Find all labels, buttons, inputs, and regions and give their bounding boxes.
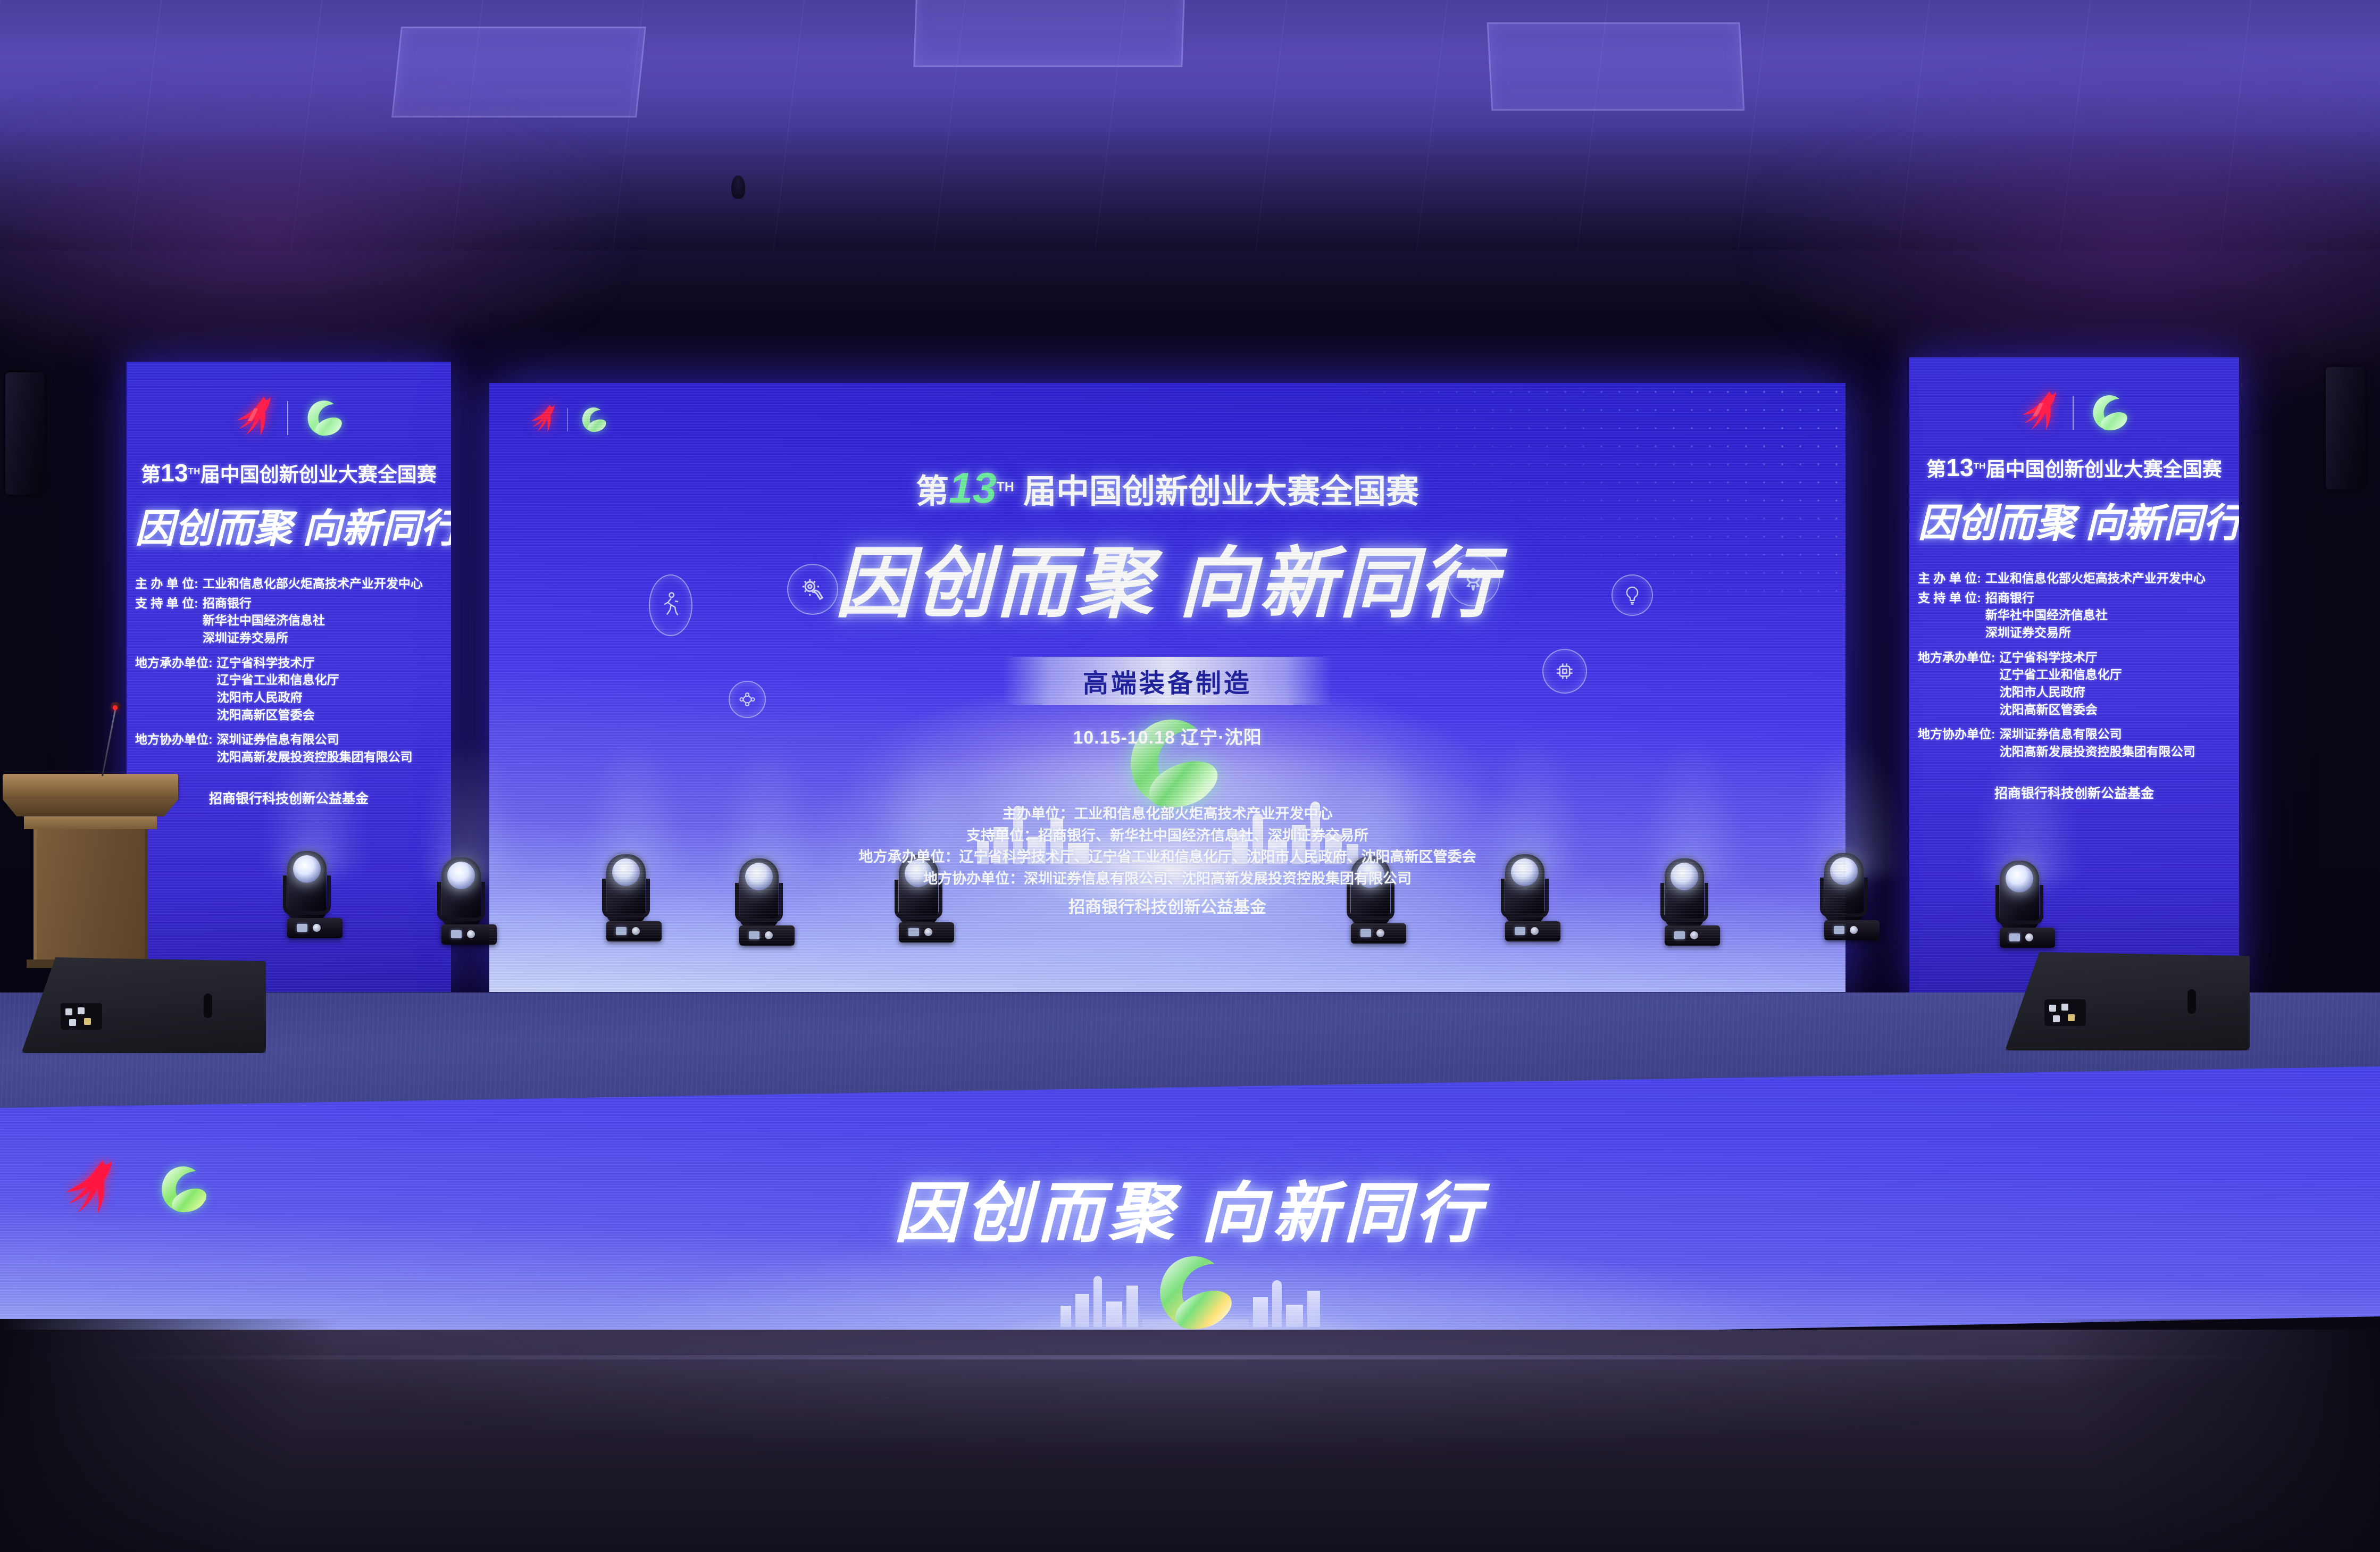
- banner-slogan-left: 因创而聚 向新同行: [135, 497, 442, 554]
- date-location: 10.15-10.18 辽宁·沈阳: [489, 723, 1845, 749]
- credit-label: 主 办 单 位:: [1918, 570, 1981, 587]
- banner-edition-right: 第13TH届中国创新创业大赛全国赛: [1918, 453, 2231, 482]
- logo-divider: [2073, 396, 2074, 430]
- credit-label: 支 持 单 位:: [135, 595, 198, 612]
- credit-values: 辽宁省科学技术厅 辽宁省工业和信息化厅 沈阳市人民政府 沈阳高新区管委会: [2000, 649, 2122, 719]
- credit-line: 支持单位：招商银行、新华社中国经济信息社、深圳证券交易所: [489, 825, 1845, 847]
- banner-credits-right: 主 办 单 位: 工业和信息化部火炬高技术产业开发中心 支 持 单 位: 招商银…: [1918, 570, 2231, 761]
- green-c-logo-icon: [575, 403, 609, 437]
- torch-logo-icon: [2016, 388, 2063, 437]
- credit-label: 地方协办单位:: [135, 731, 213, 748]
- logo-divider: [567, 408, 568, 431]
- credit-line: 主办单位：工业和信息化部火炬高技术产业开发中心: [489, 803, 1845, 825]
- main-led-screen: 第13TH 届中国创新创业大赛全国赛 因创而聚 向新同行 高端装备制造 10.1…: [489, 383, 1845, 992]
- credit-label: 主 办 单 位:: [135, 575, 198, 593]
- category-band-wrap: 高端装备制造: [489, 657, 1845, 705]
- podium-band: [24, 816, 157, 829]
- moving-head-light: [2000, 861, 2055, 948]
- credit-values: 深圳证券信息有限公司 沈阳高新发展投资控股集团有限公司: [2000, 725, 2195, 760]
- banner-fund-right: 招商银行科技创新公益基金: [1918, 783, 2231, 802]
- podium-body: [34, 829, 148, 959]
- speaker-connector-panel: [2044, 999, 2086, 1026]
- main-screen-credits: 主办单位：工业和信息化部火炬高技术产业开发中心 支持单位：招商银行、新华社中国经…: [489, 803, 1845, 889]
- green-c-logo-icon: [298, 394, 347, 443]
- stage-monitor-speaker: [21, 957, 266, 1053]
- wall-speaker-right: [2326, 367, 2365, 489]
- torch-logo-icon: [231, 394, 278, 443]
- credit-values: 深圳证券信息有限公司 沈阳高新发展投资控股集团有限公司: [217, 731, 413, 765]
- banner-slogan-right: 因创而聚 向新同行: [1918, 491, 2231, 548]
- green-c-logo-icon: [2083, 388, 2132, 437]
- side-banner-right: 第13TH届中国创新创业大赛全国赛 因创而聚 向新同行 主 办 单 位: 工业和…: [1909, 357, 2239, 993]
- credit-label: 地方承办单位:: [1918, 649, 1995, 666]
- wooden-podium[interactable]: [3, 774, 178, 968]
- credit-values: 工业和信息化部火炬高技术产业开发中心: [203, 575, 423, 593]
- moving-head-light: [441, 857, 497, 945]
- wall-glow-left: [0, 69, 638, 399]
- credit-values: 辽宁省科学技术厅 辽宁省工业和信息化厅 沈阳市人民政府 沈阳高新区管委会: [217, 654, 339, 724]
- category-band: 高端装备制造: [1003, 657, 1332, 705]
- main-screen-edition: 第13TH 届中国创新创业大赛全国赛: [489, 464, 1845, 513]
- vignette-right: [1976, 1319, 2380, 1552]
- podium-top: [3, 774, 178, 799]
- main-screen-content: 第13TH 届中国创新创业大赛全国赛 因创而聚 向新同行 高端装备制造 10.1…: [489, 464, 1845, 749]
- banner-logo-row-left: [135, 394, 442, 443]
- credit-line: 地方协办单位：深圳证券信息有限公司、沈阳高新发展投资控股集团有限公司: [489, 868, 1845, 890]
- wall-speaker-left: [5, 372, 45, 495]
- podium-slope: [3, 799, 178, 816]
- credit-values: 招商银行 新华社中国经济信息社 深圳证券交易所: [1985, 589, 2108, 641]
- torch-logo-icon: [527, 402, 559, 437]
- stage-monitor-speaker: [2005, 952, 2250, 1050]
- apron-slogan: 因创而聚 向新同行: [0, 1159, 2380, 1255]
- credit-label: 地方承办单位:: [135, 654, 213, 672]
- stage-scene: 第13TH届中国创新创业大赛全国赛 因创而聚 向新同行 主 办 单 位: 工业和…: [0, 0, 2380, 1552]
- moving-head-light: [287, 851, 343, 938]
- banner-fund-left: 招商银行科技创新公益基金: [135, 788, 442, 807]
- banner-credits-left: 主 办 单 位: 工业和信息化部火炬高技术产业开发中心 支 持 单 位: 招商银…: [135, 575, 442, 766]
- speaker-connector-panel: [61, 1003, 102, 1030]
- vignette-left: [0, 1319, 404, 1552]
- credit-values: 工业和信息化部火炬高技术产业开发中心: [1985, 570, 2206, 587]
- banner-edition-left: 第13TH届中国创新创业大赛全国赛: [135, 458, 442, 487]
- main-screen-slogan: 因创而聚 向新同行: [489, 521, 1845, 632]
- ceiling-panel: [913, 0, 1185, 67]
- credit-line: 地方承办单位：辽宁省科学技术厅、辽宁省工业和信息化厅、沈阳市人民政府、沈阳高新区…: [489, 846, 1845, 868]
- credit-label: 支 持 单 位:: [1918, 589, 1981, 607]
- logo-divider: [287, 401, 288, 435]
- main-screen-logo-row: [527, 402, 609, 437]
- main-screen-fund: 招商银行科技创新公益基金: [489, 894, 1845, 917]
- credit-values: 招商银行 新华社中国经济信息社 深圳证券交易所: [203, 595, 325, 647]
- credit-label: 地方协办单位:: [1918, 725, 1995, 743]
- banner-logo-row-right: [1918, 388, 2231, 437]
- category-text: 高端装备制造: [1083, 670, 1252, 698]
